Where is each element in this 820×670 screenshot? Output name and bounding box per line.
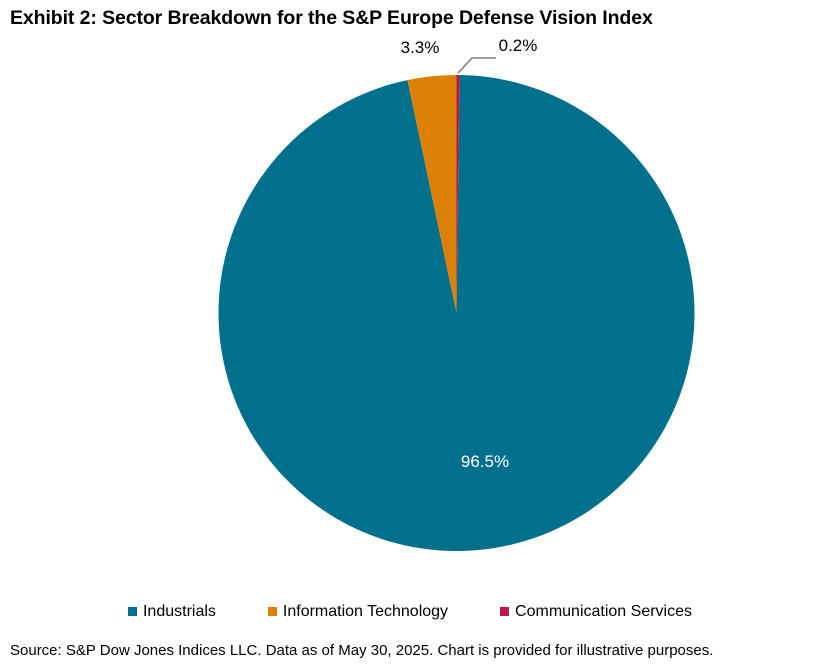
legend-item-information-technology[interactable]: Information Technology (268, 602, 448, 621)
legend-label-industrials: Industrials (143, 602, 216, 621)
slice-label-communication-services: 0.2% (458, 36, 578, 56)
legend-label-information-technology: Information Technology (283, 602, 448, 621)
chart-title: Exhibit 2: Sector Breakdown for the S&P … (10, 6, 810, 30)
legend-label-communication-services: Communication Services (515, 602, 692, 621)
slice-label-industrials: 96.5% (425, 452, 545, 472)
legend-swatch-icon-information-technology (268, 607, 277, 616)
pie-svg (0, 34, 820, 588)
plot-area: 3.3% 0.2% 96.5% (0, 34, 820, 588)
legend-swatch-icon-industrials (128, 607, 137, 616)
pie-chart-figure: Exhibit 2: Sector Breakdown for the S&P … (0, 0, 820, 670)
pie-slices (219, 75, 695, 551)
legend-item-communication-services[interactable]: Communication Services (500, 602, 692, 621)
leader-line-communication-services (458, 58, 496, 73)
legend-item-industrials[interactable]: Industrials (128, 602, 216, 621)
source-note: Source: S&P Dow Jones Indices LLC. Data … (10, 641, 816, 660)
chart-legend: Industrials Information Technology Commu… (0, 598, 820, 624)
legend-swatch-icon-communication-services (500, 607, 509, 616)
